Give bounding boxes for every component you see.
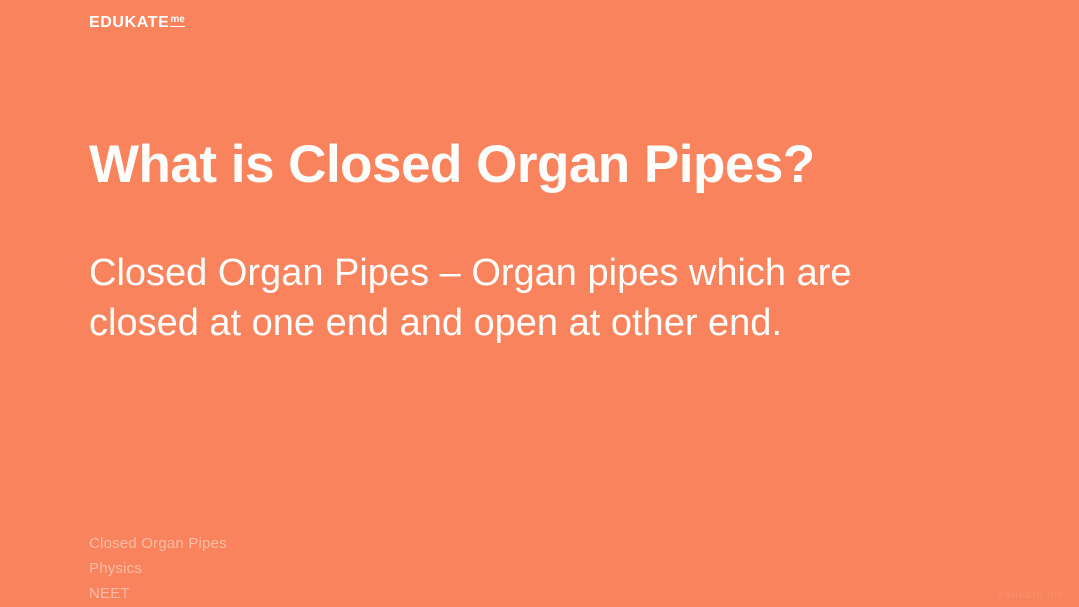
footer-exam: NEET: [89, 586, 227, 601]
footer-subject: Physics: [89, 561, 227, 576]
edukate-logo[interactable]: EDUKATE me: [89, 15, 185, 31]
slide-body-text: Closed Organ Pipes – Organ pipes which a…: [89, 248, 959, 348]
presentation-slide: EDUKATE me What is Closed Organ Pipes? C…: [0, 0, 1079, 607]
corner-watermark: edukate.me: [998, 589, 1065, 601]
footer-topic: Closed Organ Pipes: [89, 536, 227, 551]
logo-suffix: me: [170, 15, 184, 27]
logo-wordmark: EDUKATE: [89, 15, 169, 31]
slide-footer: Closed Organ Pipes Physics NEET: [89, 536, 227, 601]
slide-title: What is Closed Organ Pipes?: [89, 136, 989, 193]
